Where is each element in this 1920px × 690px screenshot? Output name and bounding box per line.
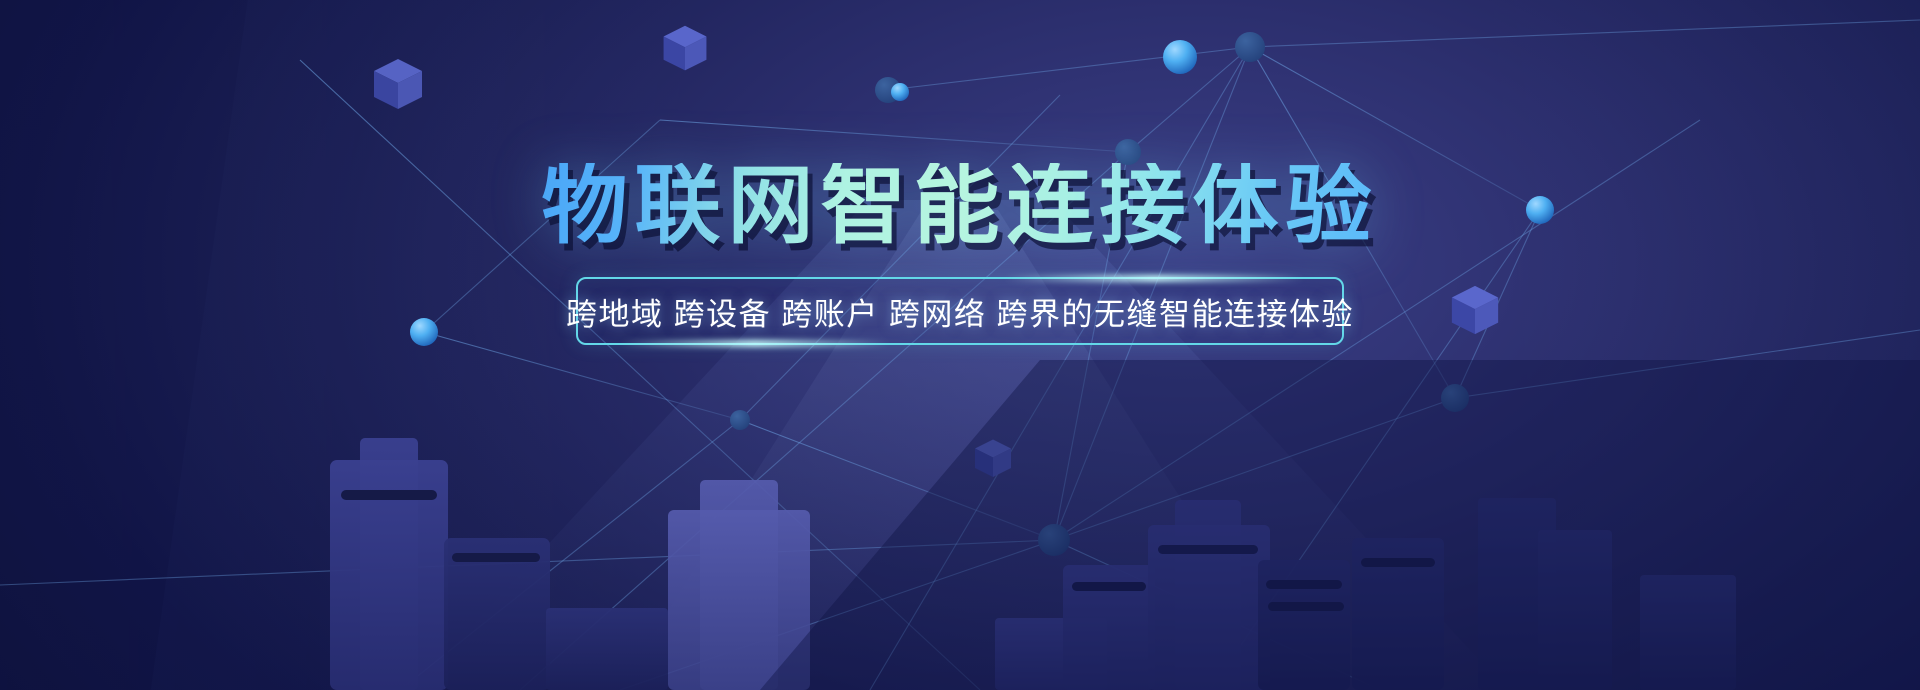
node-dim-lower-center bbox=[1038, 524, 1070, 556]
iot-hero-banner: 物联网智能连接体验 跨地域 跨设备 跨账户 跨网络 跨界的无缝智能连接体验 bbox=[0, 0, 1920, 690]
building-group-right bbox=[1148, 498, 1736, 690]
node-dim-right-box bbox=[1441, 384, 1469, 412]
city-skyline bbox=[0, 360, 1920, 690]
subtitle-text: 跨地域 跨设备 跨账户 跨网络 跨界的无缝智能连接体验 bbox=[566, 289, 1354, 334]
subtitle-box: 跨地域 跨设备 跨账户 跨网络 跨界的无缝智能连接体验 bbox=[576, 277, 1344, 345]
hero-content: 物联网智能连接体验 跨地域 跨设备 跨账户 跨网络 跨界的无缝智能连接体验 bbox=[0, 0, 1920, 345]
page-title: 物联网智能连接体验 bbox=[542, 163, 1379, 249]
node-dim-left-low bbox=[730, 410, 750, 430]
building-group-center bbox=[668, 480, 1155, 690]
building-group-left bbox=[330, 438, 668, 690]
cube-center-low-icon bbox=[972, 436, 1014, 482]
skyline-shadow-wedge bbox=[760, 360, 1920, 690]
